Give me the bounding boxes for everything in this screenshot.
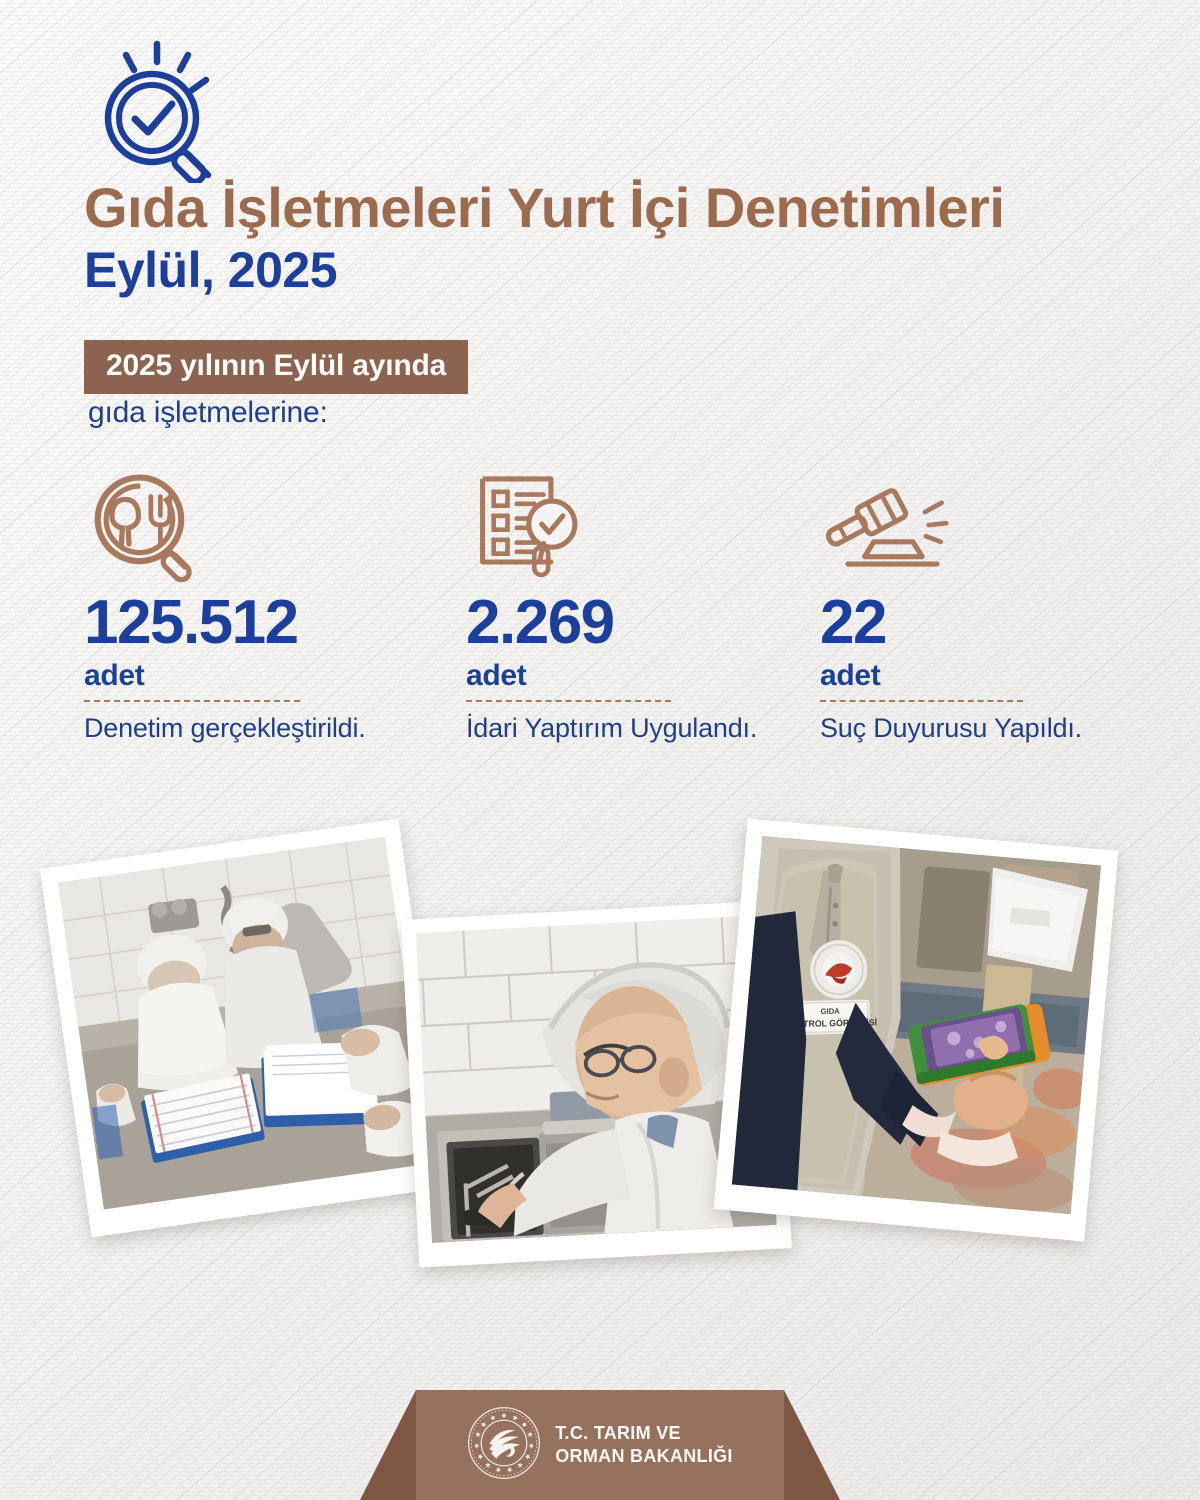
page-title: Gıda İşletmeleri Yurt İçi Denetimleri Ey… xyxy=(84,178,1144,299)
inspection-photo-product-check: GIDA KONTROL GÖREVLİSİ xyxy=(714,819,1119,1242)
stat-divider xyxy=(84,700,300,702)
stats-row: 125.512 adet Denetim gerçekleştirildi. xyxy=(0,470,1200,820)
stat-description: İdari Yaptırım Uygulandı. xyxy=(466,711,816,747)
title-primary: Gıda İşletmeleri Yurt İçi Denetimleri xyxy=(84,178,1144,238)
stat-divider xyxy=(466,700,671,702)
gavel-icon xyxy=(820,470,1170,582)
stat-description: Suç Duyurusu Yapıldı. xyxy=(820,711,1170,747)
ministry-emblem-icon xyxy=(467,1406,541,1485)
stat-value: 125.512 xyxy=(84,592,434,654)
inspection-photo-documents xyxy=(40,819,450,1238)
footer-line-2: ORMAN BAKANLIĞI xyxy=(555,1445,733,1468)
footer-banner: T.C. TARIM VE ORMAN BAKANLIĞI xyxy=(0,1390,1200,1500)
footer-line-1: T.C. TARIM VE xyxy=(555,1422,733,1445)
stat-unit: adet xyxy=(466,658,816,693)
lead-subtitle: gıda işletmelerine: xyxy=(88,396,328,430)
stat-card-idari-yaptirim: 2.269 adet İdari Yaptırım Uygulandı. xyxy=(466,470,816,747)
title-period: Eylül, 2025 xyxy=(84,242,1144,300)
stat-unit: adet xyxy=(84,658,434,693)
magnifier-cutlery-icon xyxy=(84,470,434,582)
footer-panel: T.C. TARIM VE ORMAN BAKANLIĞI xyxy=(416,1390,784,1500)
stat-card-suc-duyurusu: 22 adet Suç Duyurusu Yapıldı. xyxy=(820,470,1170,747)
stat-value: 22 xyxy=(820,592,1170,654)
stat-divider xyxy=(820,700,1023,702)
photo-collage: GIDA KONTROL GÖREVLİSİ xyxy=(0,820,1200,1290)
stat-description: Denetim gerçekleştirildi. xyxy=(84,711,434,747)
stat-value: 2.269 xyxy=(466,592,816,654)
footer-wing-left xyxy=(360,1390,416,1500)
magnifier-check-icon xyxy=(88,38,228,183)
vest-badge-line1: GIDA xyxy=(821,1007,841,1017)
lead-badge: 2025 yılının Eylül ayında xyxy=(84,340,468,394)
stat-card-denetim: 125.512 adet Denetim gerçekleştirildi. xyxy=(84,470,434,747)
footer-ministry-name: T.C. TARIM VE ORMAN BAKANLIĞI xyxy=(555,1422,733,1468)
stat-unit: adet xyxy=(820,658,1170,693)
infographic-page: Gıda İşletmeleri Yurt İçi Denetimleri Ey… xyxy=(0,0,1200,1500)
clipboard-checklist-magnifier-icon xyxy=(466,470,816,582)
footer-wing-right xyxy=(784,1390,840,1500)
